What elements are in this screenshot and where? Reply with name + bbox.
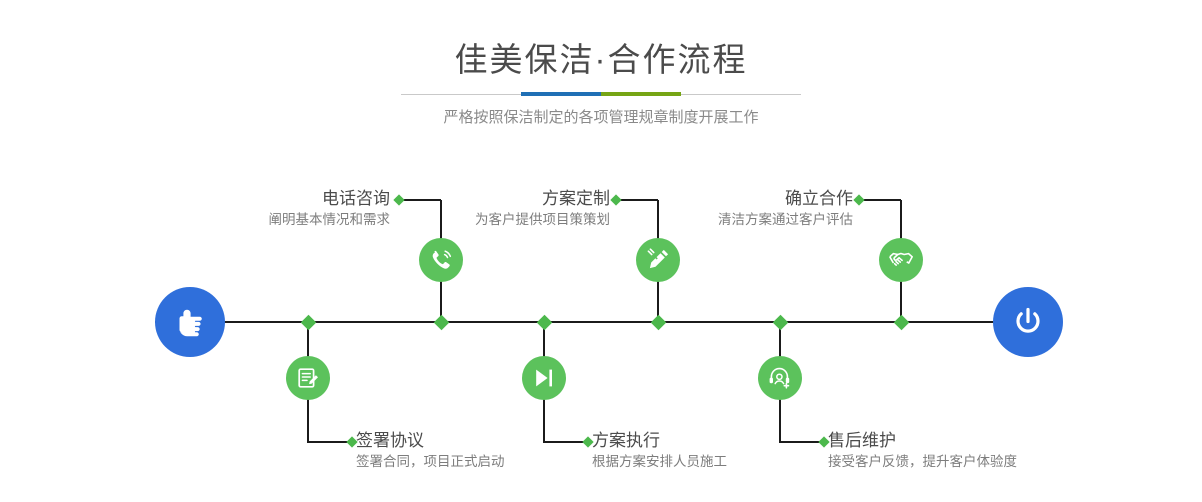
step-5-desc: 清洁方案通过客户评估 (545, 210, 853, 230)
step-5-horizontal-connector (860, 199, 901, 201)
step-6-horizontal-connector (779, 441, 823, 443)
customer-service-icon (767, 365, 793, 391)
pointing-hand-icon (172, 304, 208, 340)
timeline-start-endpoint[interactable] (155, 287, 225, 357)
title-divider (401, 92, 801, 96)
step-5-label: 确立合作 清洁方案通过客户评估 (545, 188, 853, 230)
divider-olive-segment (601, 92, 681, 96)
step-5-label-diamond (853, 194, 864, 205)
play-execute-icon (531, 365, 557, 391)
step-5-axis-diamond (893, 314, 909, 330)
step-1-axis-diamond (433, 314, 449, 330)
step-6-title: 售后维护 (828, 430, 1168, 452)
page-title: 佳美保洁·合作流程 (0, 38, 1202, 82)
step-6-desc: 接受客户反馈，提升客户体验度 (828, 452, 1168, 472)
step-6-icon-badge[interactable] (758, 356, 802, 400)
power-icon (1009, 303, 1047, 341)
handshake-icon (888, 247, 914, 273)
step-2-icon-badge[interactable] (286, 356, 330, 400)
step-4-axis-diamond (536, 314, 552, 330)
page-subtitle: 严格按照保洁制定的各项管理规章制度开展工作 (0, 107, 1202, 129)
phone-call-icon (428, 247, 454, 273)
process-timeline: 电话咨询 阐明基本情况和需求 签署协议 签署合同，项目正式启动 (0, 150, 1202, 502)
step-3-icon-badge[interactable] (636, 238, 680, 282)
step-3-axis-diamond (650, 314, 666, 330)
step-5-icon-badge[interactable] (879, 238, 923, 282)
divider-gray-left (401, 94, 521, 95)
divider-blue-segment (521, 92, 601, 96)
step-4-icon-badge[interactable] (522, 356, 566, 400)
timeline-axis (155, 321, 1047, 323)
pencil-plan-icon (645, 247, 671, 273)
document-edit-icon (296, 366, 320, 390)
step-4-horizontal-connector (543, 441, 587, 443)
step-2-horizontal-connector (307, 441, 351, 443)
timeline-end-endpoint[interactable] (993, 287, 1063, 357)
divider-gray-right (681, 94, 801, 95)
step-2-axis-diamond (300, 314, 316, 330)
step-5-title: 确立合作 (545, 188, 853, 210)
page-header: 佳美保洁·合作流程 严格按照保洁制定的各项管理规章制度开展工作 (0, 0, 1202, 150)
step-6-label: 售后维护 接受客户反馈，提升客户体验度 (828, 430, 1168, 472)
step-6-axis-diamond (772, 314, 788, 330)
step-1-icon-badge[interactable] (419, 238, 463, 282)
